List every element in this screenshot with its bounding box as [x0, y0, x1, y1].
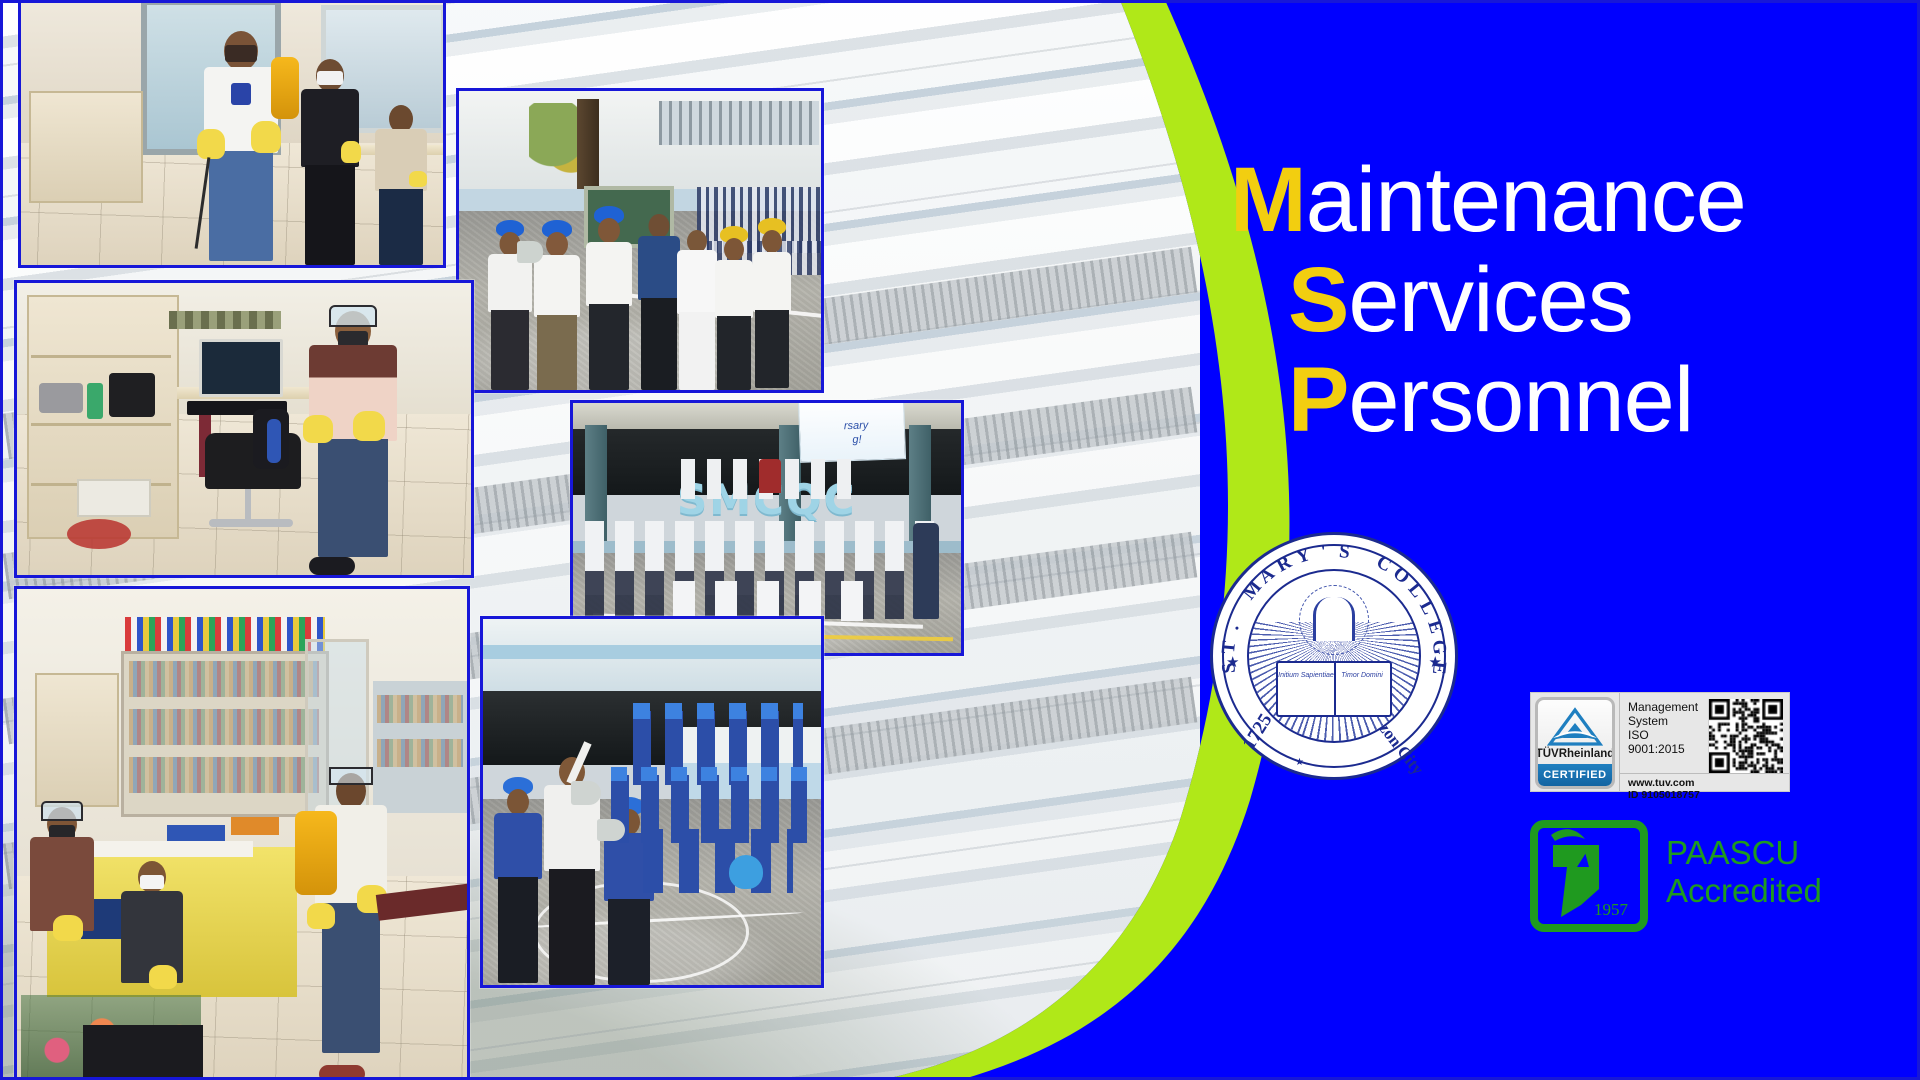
tuv-line-3: ISO 9001:2015 [1628, 728, 1708, 756]
photo-earthquake-drill [456, 88, 824, 393]
paascu-year: 1957 [1594, 900, 1628, 920]
paascu-logo-icon: 1957 [1530, 820, 1648, 932]
branding-pane: Maintenance Services Personnel ST. MARY'… [1200, 0, 1920, 1080]
tuv-triangle-icon [1547, 707, 1603, 747]
tuv-standard-text: Management System ISO 9001:2015 [1620, 693, 1708, 773]
seal-open-book: Initium Sapientiae Timor Domini [1276, 661, 1392, 717]
anniversary-banner: rsary g! [798, 403, 906, 463]
tuv-website: www.tuv.com [1628, 777, 1789, 789]
tuv-id: ID 9105018757 [1628, 789, 1789, 801]
seal-motto-left: Initium Sapientiae [1278, 671, 1334, 680]
title-rest-personnel: ersonnel [1348, 349, 1693, 451]
st-marys-college-seal: ST. MARY'S COLLEGE ★ ★ 1725 Quezon City … [1210, 532, 1458, 780]
paascu-accreditation: 1957 PAASCU Accredited [1530, 820, 1830, 935]
photo-blue-uniform-team [480, 616, 824, 988]
title-initial-m: M [1230, 149, 1306, 251]
title-rest-maintenance: aintenance [1306, 149, 1746, 251]
paascu-text: PAASCU Accredited [1666, 834, 1822, 910]
photo-disinfection-hallway [18, 0, 446, 268]
title-initial-s: S [1288, 249, 1348, 351]
tuv-brand-text: TÜVRheinland [1536, 748, 1615, 760]
tuv-certified-label: CERTIFIED [1538, 764, 1612, 786]
tuv-brand-name: TÜVRheinland ® [1536, 748, 1615, 760]
title-rest-services: ervices [1348, 249, 1632, 351]
tuv-rheinland-badge: TÜVRheinland ® CERTIFIED Management Syst… [1530, 692, 1790, 792]
photo-library-disinfection [14, 586, 470, 1080]
poster-title: Maintenance Services Personnel [1230, 150, 1920, 450]
photo-collage-pane: SMCQC rsary g! [0, 0, 1200, 1080]
seal-emblem: Initium Sapientiae Timor Domini [1247, 569, 1421, 743]
seal-motto-right: Timor Domini [1334, 671, 1390, 680]
title-initial-p: P [1288, 349, 1348, 451]
title-line-maintenance: Maintenance [1230, 150, 1920, 250]
paascu-line-2: Accredited [1666, 872, 1822, 910]
tuv-line-1: Management [1628, 700, 1708, 714]
banner-line-1: rsary [844, 419, 869, 432]
photo-office-sanitation [14, 280, 474, 578]
title-line-personnel: Personnel [1230, 350, 1920, 450]
title-line-services: Services [1230, 250, 1920, 350]
qr-code-icon [1708, 699, 1783, 773]
banner-line-2: g! [852, 434, 862, 446]
tuv-line-2: System [1628, 714, 1708, 728]
poster-canvas: SMCQC rsary g! [0, 0, 1920, 1080]
tuv-footer: www.tuv.com ID 9105018757 [1620, 773, 1789, 801]
paascu-line-1: PAASCU [1666, 834, 1822, 872]
tuv-logo: TÜVRheinland ® CERTIFIED [1531, 693, 1619, 793]
